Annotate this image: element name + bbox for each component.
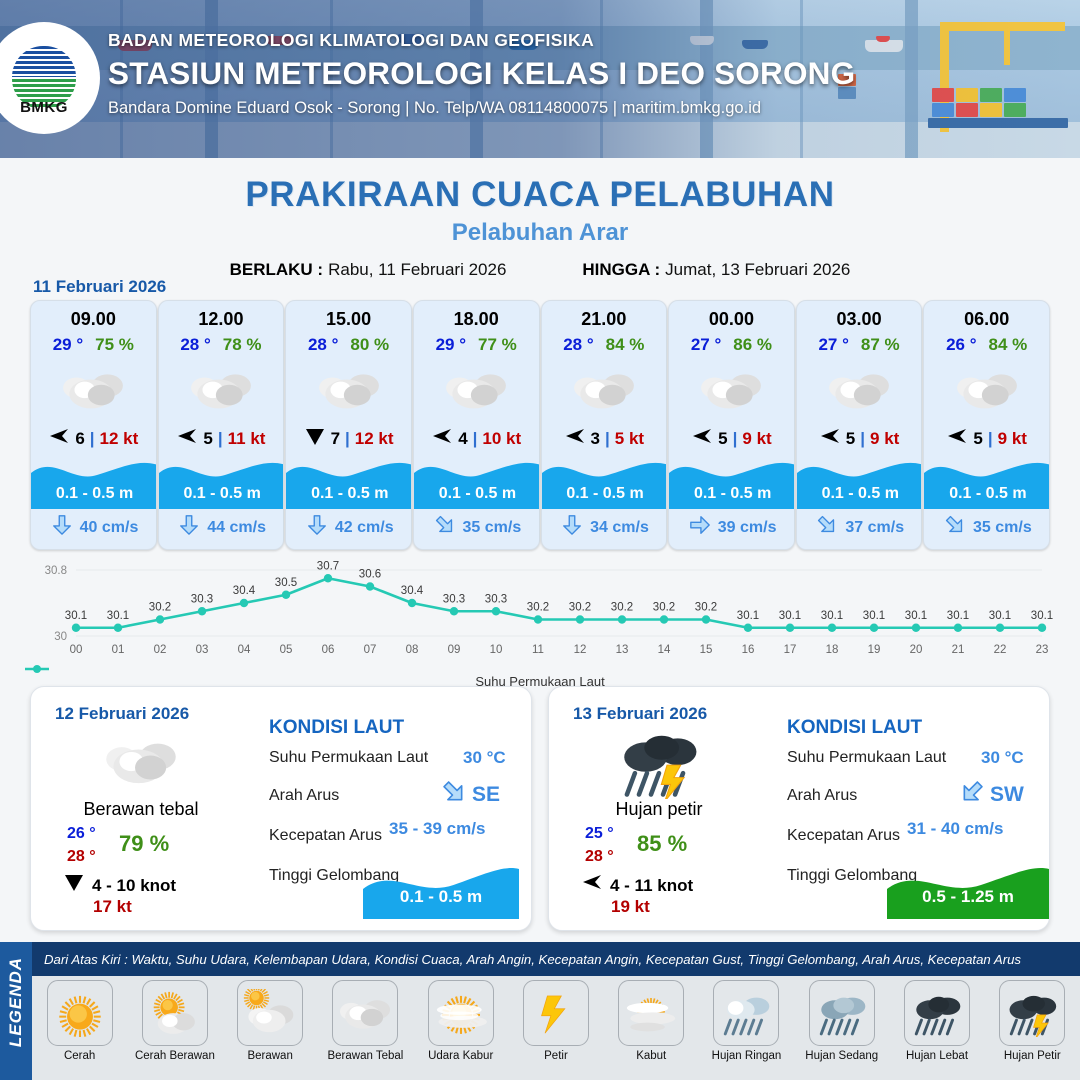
hourly-date-label: 11 Februari 2026 xyxy=(33,277,166,297)
current-direction-icon xyxy=(944,514,966,541)
svg-text:20: 20 xyxy=(910,644,923,656)
current-speed-value: 35 - 39 cm/s xyxy=(389,819,485,839)
logo-sky-icon xyxy=(12,46,76,77)
berawan-tebal-icon xyxy=(924,359,1049,421)
port-name: Pelabuhan Arar xyxy=(0,219,1080,247)
svg-text:30.3: 30.3 xyxy=(191,593,213,605)
svg-text:13: 13 xyxy=(616,644,629,656)
svg-text:30.1: 30.1 xyxy=(821,610,843,622)
svg-text:02: 02 xyxy=(154,644,167,656)
svg-text:23: 23 xyxy=(1036,644,1049,656)
wind-gust-value: 9 kt xyxy=(742,429,771,449)
svg-text:21: 21 xyxy=(952,644,965,656)
wind-direction-value: 4 xyxy=(458,429,467,449)
sst-value: 30 °C xyxy=(981,748,1024,768)
svg-text:30.7: 30.7 xyxy=(317,560,339,572)
valid-from-value: Rabu, 11 Februari 2026 xyxy=(328,260,506,279)
daily-wind-direction-icon xyxy=(581,873,603,898)
current-speed-label: Kecepatan Arus xyxy=(269,827,382,845)
daily-condition: Berawan tebal xyxy=(31,799,251,820)
wave-height-value: 0.1 - 0.5 m xyxy=(797,485,923,503)
wind-direction-icon xyxy=(431,427,453,452)
udara-kabur-icon xyxy=(428,980,494,1046)
current-direction-label: Arah Arus xyxy=(787,787,857,805)
wind-separator: | xyxy=(90,429,95,449)
hourly-card[interactable]: 09.00 29 ° 75 % 6 | 12 kt 0.1 - 0.5 m 40… xyxy=(30,300,157,550)
berawan-tebal-icon xyxy=(31,359,156,421)
wave-height-value: 0.1 - 0.5 m xyxy=(414,485,540,503)
wind-gust-value: 9 kt xyxy=(870,429,899,449)
card-humidity: 77 % xyxy=(478,335,517,355)
berawan-icon xyxy=(237,980,303,1046)
svg-text:30.2: 30.2 xyxy=(611,602,633,614)
wind-gust-value: 9 kt xyxy=(998,429,1027,449)
card-time: 09.00 xyxy=(31,309,156,330)
card-humidity: 75 % xyxy=(95,335,134,355)
legend-section: LEGENDA Dari Atas Kiri : Waktu, Suhu Uda… xyxy=(0,942,1080,1080)
berawan-tebal-icon xyxy=(86,727,196,797)
wind-direction-value: 5 xyxy=(718,429,727,449)
current-speed-label: Kecepatan Arus xyxy=(787,827,900,845)
daily-wind-direction-icon xyxy=(63,873,85,898)
kabut-icon xyxy=(618,980,684,1046)
hourly-card[interactable]: 03.00 27 ° 87 % 5 | 9 kt 0.1 - 0.5 m 37 … xyxy=(796,300,923,550)
svg-text:30.1: 30.1 xyxy=(65,610,87,622)
wind-direction-value: 5 xyxy=(203,429,212,449)
card-time: 03.00 xyxy=(797,309,922,330)
current-speed-value: 35 cm/s xyxy=(973,519,1032,537)
wind-direction-icon xyxy=(176,427,198,452)
svg-text:30.1: 30.1 xyxy=(863,610,885,622)
svg-text:09: 09 xyxy=(448,644,461,656)
card-temperature: 29 ° xyxy=(436,335,466,355)
berawan-tebal-icon xyxy=(332,980,398,1046)
berawan-tebal-icon xyxy=(159,359,284,421)
card-humidity: 84 % xyxy=(989,335,1028,355)
card-temperature: 28 ° xyxy=(180,335,210,355)
svg-text:16: 16 xyxy=(742,644,755,656)
current-speed-value: 42 cm/s xyxy=(335,519,394,537)
legend-item: Hujan Petir xyxy=(986,980,1078,1062)
wind-direction-value: 5 xyxy=(846,429,855,449)
daily-current-direction: SE xyxy=(441,779,500,810)
svg-text:30.4: 30.4 xyxy=(233,585,256,597)
svg-text:15: 15 xyxy=(700,644,713,656)
wind-gust-value: 12 kt xyxy=(355,429,394,449)
legend-item-label: Cerah xyxy=(34,1050,126,1062)
svg-text:30.2: 30.2 xyxy=(653,602,675,614)
daily-date: 12 Februari 2026 xyxy=(55,704,189,724)
hujan-lebat-icon xyxy=(904,980,970,1046)
svg-text:30.1: 30.1 xyxy=(737,610,759,622)
card-temperature: 28 ° xyxy=(563,335,593,355)
wind-direction-value: 5 xyxy=(973,429,982,449)
hourly-card[interactable]: 15.00 28 ° 80 % 7 | 12 kt 0.1 - 0.5 m 42… xyxy=(285,300,412,550)
legend-item-label: Udara Kabur xyxy=(415,1050,507,1062)
daily-date: 13 Februari 2026 xyxy=(573,704,707,724)
wind-direction-icon xyxy=(564,427,586,452)
hourly-forecast-row: 09.00 29 ° 75 % 6 | 12 kt 0.1 - 0.5 m 40… xyxy=(30,300,1050,550)
current-speed-value: 34 cm/s xyxy=(590,519,649,537)
current-direction-label: Arah Arus xyxy=(269,787,339,805)
svg-text:12: 12 xyxy=(574,644,587,656)
svg-text:30.1: 30.1 xyxy=(989,610,1011,622)
svg-text:30.1: 30.1 xyxy=(905,610,927,622)
svg-text:30.3: 30.3 xyxy=(485,593,507,605)
cerah-berawan-icon xyxy=(142,980,208,1046)
card-temperature: 29 ° xyxy=(53,335,83,355)
svg-text:30.8: 30.8 xyxy=(45,565,67,577)
sst-label: Suhu Permukaan Laut xyxy=(269,749,428,767)
wind-direction-icon xyxy=(48,427,70,452)
svg-text:00: 00 xyxy=(70,644,83,656)
daily-forecast-panel[interactable]: 12 Februari 2026 Berawan tebal 26 ° 28 °… xyxy=(30,686,532,931)
daily-current-direction-value: SW xyxy=(990,783,1024,807)
legend-item-label: Hujan Lebat xyxy=(891,1050,983,1062)
daily-wind-gust: 19 kt xyxy=(611,897,650,917)
legend-item-label: Berawan xyxy=(224,1050,316,1062)
daily-temp-max: 28 ° xyxy=(585,848,614,866)
legend-item: Kabut xyxy=(605,980,697,1062)
berawan-tebal-icon xyxy=(797,359,922,421)
card-humidity: 84 % xyxy=(606,335,645,355)
legend-item-label: Hujan Sedang xyxy=(796,1050,888,1062)
legend-sidebar-title: LEGENDA xyxy=(6,950,26,1054)
header-banner: BMKG BADAN METEOROLOGI KLIMATOLOGI DAN G… xyxy=(0,0,1080,158)
valid-until-label: HINGGA : xyxy=(582,260,660,279)
svg-text:30.2: 30.2 xyxy=(527,602,549,614)
hourly-card[interactable]: 00.00 27 ° 86 % 5 | 9 kt 0.1 - 0.5 m 39 … xyxy=(668,300,795,550)
wind-separator: | xyxy=(988,429,993,449)
svg-text:30.3: 30.3 xyxy=(443,593,465,605)
current-direction-icon xyxy=(434,514,456,541)
wind-gust-value: 10 kt xyxy=(482,429,521,449)
svg-text:08: 08 xyxy=(406,644,419,656)
page-title: PRAKIRAAN CUACA PELABUHAN xyxy=(0,175,1080,215)
legend-item: Udara Kabur xyxy=(415,980,507,1062)
wind-separator: | xyxy=(860,429,865,449)
legend-item-label: Hujan Petir xyxy=(986,1050,1078,1062)
svg-text:30.1: 30.1 xyxy=(107,610,129,622)
card-time: 15.00 xyxy=(286,309,411,330)
svg-text:30: 30 xyxy=(54,631,67,643)
title-section: PRAKIRAAN CUACA PELABUHAN Pelabuhan Arar… xyxy=(0,158,1080,280)
card-temperature: 26 ° xyxy=(946,335,976,355)
berawan-tebal-icon xyxy=(669,359,794,421)
daily-forecast-panel[interactable]: 13 Februari 2026 Hujan petir 25 ° 28 ° 8… xyxy=(548,686,1050,931)
sea-conditions-title: KONDISI LAUT xyxy=(269,717,404,739)
card-humidity: 78 % xyxy=(223,335,262,355)
daily-forecast-row: 12 Februari 2026 Berawan tebal 26 ° 28 °… xyxy=(30,686,1050,931)
wind-direction-icon xyxy=(946,427,968,452)
svg-text:30.2: 30.2 xyxy=(695,602,717,614)
legend-item: Hujan Ringan xyxy=(700,980,792,1062)
daily-wind-range: 4 - 11 knot xyxy=(610,876,693,896)
wind-direction-value: 6 xyxy=(75,429,84,449)
daily-condition: Hujan petir xyxy=(549,799,769,820)
current-direction-icon xyxy=(306,514,328,541)
svg-text:22: 22 xyxy=(994,644,1007,656)
legend-item: Petir xyxy=(510,980,602,1062)
legend-item: Cerah Berawan xyxy=(129,980,221,1062)
wind-gust-value: 5 kt xyxy=(615,429,644,449)
wind-separator: | xyxy=(605,429,610,449)
daily-temp-max: 28 ° xyxy=(67,848,96,866)
svg-text:10: 10 xyxy=(490,644,503,656)
card-time: 21.00 xyxy=(542,309,667,330)
sst-chart: 30.83030.10030.10130.20230.30330.40430.5… xyxy=(24,556,1056,686)
svg-text:01: 01 xyxy=(112,644,125,656)
svg-text:30.6: 30.6 xyxy=(359,569,381,581)
legend-note: Dari Atas Kiri : Waktu, Suhu Udara, Kele… xyxy=(32,952,1021,967)
legend-item-label: Petir xyxy=(510,1050,602,1062)
valid-from-label: BERLAKU : xyxy=(230,260,324,279)
svg-text:05: 05 xyxy=(280,644,293,656)
legend-items: Cerah Cerah Berawan Berawan Berawan Teba… xyxy=(32,980,1080,1062)
current-direction-icon xyxy=(178,514,200,541)
sst-label: Suhu Permukaan Laut xyxy=(787,749,946,767)
svg-text:14: 14 xyxy=(658,644,671,656)
valid-until-value: Jumat, 13 Februari 2026 xyxy=(665,260,850,279)
svg-text:30.1: 30.1 xyxy=(1031,610,1053,622)
svg-text:19: 19 xyxy=(868,644,881,656)
wave-height-value: 0.1 - 0.5 m xyxy=(542,485,668,503)
current-speed-value: 39 cm/s xyxy=(718,519,777,537)
legend-item: Cerah xyxy=(34,980,126,1062)
logo-text: BMKG xyxy=(5,99,83,116)
card-time: 06.00 xyxy=(924,309,1049,330)
wind-direction-value: 7 xyxy=(331,429,340,449)
valid-from: BERLAKU :Rabu, 11 Februari 2026 xyxy=(230,260,507,280)
wind-gust-value: 12 kt xyxy=(100,429,139,449)
svg-text:07: 07 xyxy=(364,644,377,656)
hujan-sedang-icon xyxy=(809,980,875,1046)
svg-text:30.2: 30.2 xyxy=(569,602,591,614)
berawan-tebal-icon xyxy=(542,359,667,421)
card-humidity: 87 % xyxy=(861,335,900,355)
daily-humidity: 85 % xyxy=(637,831,687,857)
daily-current-direction-value: SE xyxy=(472,783,500,807)
legend-item: Berawan xyxy=(224,980,316,1062)
card-time: 18.00 xyxy=(414,309,539,330)
legend-item-label: Berawan Tebal xyxy=(319,1050,411,1062)
card-temperature: 27 ° xyxy=(691,335,721,355)
card-time: 00.00 xyxy=(669,309,794,330)
svg-text:30.1: 30.1 xyxy=(779,610,801,622)
svg-text:30.4: 30.4 xyxy=(401,585,424,597)
berawan-tebal-icon xyxy=(414,359,539,421)
legend-note-bar: Dari Atas Kiri : Waktu, Suhu Udara, Kele… xyxy=(32,942,1080,976)
daily-wind-range: 4 - 10 knot xyxy=(92,876,176,896)
wind-separator: | xyxy=(733,429,738,449)
berawan-tebal-icon xyxy=(286,359,411,421)
sst-value: 30 °C xyxy=(463,748,506,768)
svg-text:04: 04 xyxy=(238,644,251,656)
svg-text:18: 18 xyxy=(826,644,839,656)
hourly-card[interactable]: 06.00 26 ° 84 % 5 | 9 kt 0.1 - 0.5 m 35 … xyxy=(923,300,1050,550)
svg-text:03: 03 xyxy=(196,644,209,656)
wind-gust-value: 11 kt xyxy=(228,429,266,449)
legend-item: Hujan Lebat xyxy=(891,980,983,1062)
daily-temp-min: 26 ° xyxy=(67,825,96,843)
current-speed-value: 31 - 40 cm/s xyxy=(907,819,1003,839)
daily-wind-gust: 17 kt xyxy=(93,897,132,917)
daily-humidity: 79 % xyxy=(119,831,169,857)
daily-wave-value: 0.1 - 0.5 m xyxy=(363,887,519,907)
wind-direction-icon xyxy=(304,427,326,452)
current-direction-icon xyxy=(689,514,711,541)
daily-current-direction-icon xyxy=(441,779,467,810)
legend-item-label: Kabut xyxy=(605,1050,697,1062)
wave-height-value: 0.1 - 0.5 m xyxy=(669,485,795,503)
svg-text:30.5: 30.5 xyxy=(275,577,297,589)
current-speed-value: 35 cm/s xyxy=(463,519,522,537)
svg-text:17: 17 xyxy=(784,644,797,656)
cerah-icon xyxy=(47,980,113,1046)
wind-separator: | xyxy=(345,429,350,449)
hujan-petir-icon xyxy=(999,980,1065,1046)
daily-temp-min: 25 ° xyxy=(585,825,614,843)
valid-until: HINGGA :Jumat, 13 Februari 2026 xyxy=(582,260,850,280)
hourly-card[interactable]: 12.00 28 ° 78 % 5 | 11 kt 0.1 - 0.5 m 44… xyxy=(158,300,285,550)
card-humidity: 86 % xyxy=(733,335,772,355)
daily-current-direction: SW xyxy=(959,779,1024,810)
wave-height-value: 0.1 - 0.5 m xyxy=(924,485,1050,503)
legend-item-label: Hujan Ringan xyxy=(700,1050,792,1062)
card-temperature: 28 ° xyxy=(308,335,338,355)
current-speed-value: 44 cm/s xyxy=(207,519,266,537)
hourly-card[interactable]: 18.00 29 ° 77 % 4 | 10 kt 0.1 - 0.5 m 35… xyxy=(413,300,540,550)
card-temperature: 27 ° xyxy=(818,335,848,355)
current-speed-value: 37 cm/s xyxy=(845,519,904,537)
hujan-petir-icon xyxy=(604,727,714,797)
svg-text:11: 11 xyxy=(532,644,544,656)
hujan-ringan-icon xyxy=(713,980,779,1046)
petir-icon xyxy=(523,980,589,1046)
legend-sidebar: LEGENDA xyxy=(0,942,32,1080)
legend-item: Berawan Tebal xyxy=(319,980,411,1062)
legend-item: Hujan Sedang xyxy=(796,980,888,1062)
svg-text:30.1: 30.1 xyxy=(947,610,969,622)
svg-text:06: 06 xyxy=(322,644,335,656)
current-direction-icon xyxy=(51,514,73,541)
svg-text:30.2: 30.2 xyxy=(149,602,171,614)
legend-item-label: Cerah Berawan xyxy=(129,1050,221,1062)
wind-separator: | xyxy=(218,429,223,449)
current-direction-icon xyxy=(561,514,583,541)
station-name: STASIUN METEOROLOGI KELAS I DEO SORONG xyxy=(108,55,1008,92)
wave-height-value: 0.1 - 0.5 m xyxy=(286,485,412,503)
wind-direction-value: 3 xyxy=(591,429,600,449)
current-direction-icon xyxy=(816,514,838,541)
wind-direction-icon xyxy=(691,427,713,452)
station-contact: Bandara Domine Eduard Osok - Sorong | No… xyxy=(108,99,1008,118)
wind-separator: | xyxy=(473,429,478,449)
daily-wave-value: 0.5 - 1.25 m xyxy=(887,887,1049,907)
card-humidity: 80 % xyxy=(350,335,389,355)
wave-height-value: 0.1 - 0.5 m xyxy=(31,485,157,503)
daily-current-direction-icon xyxy=(959,779,985,810)
legend-marker-icon xyxy=(24,664,50,674)
daily-wave-graphic: 0.1 - 0.5 m xyxy=(363,863,519,919)
hourly-card[interactable]: 21.00 28 ° 84 % 3 | 5 kt 0.1 - 0.5 m 34 … xyxy=(541,300,668,550)
wind-direction-icon xyxy=(819,427,841,452)
agency-name: BADAN METEOROLOGI KLIMATOLOGI DAN GEOFIS… xyxy=(108,30,1008,51)
card-time: 12.00 xyxy=(159,309,284,330)
daily-wave-graphic: 0.5 - 1.25 m xyxy=(887,863,1049,919)
sea-conditions-title: KONDISI LAUT xyxy=(787,717,922,739)
current-speed-value: 40 cm/s xyxy=(80,519,139,537)
wave-height-value: 0.1 - 0.5 m xyxy=(159,485,285,503)
